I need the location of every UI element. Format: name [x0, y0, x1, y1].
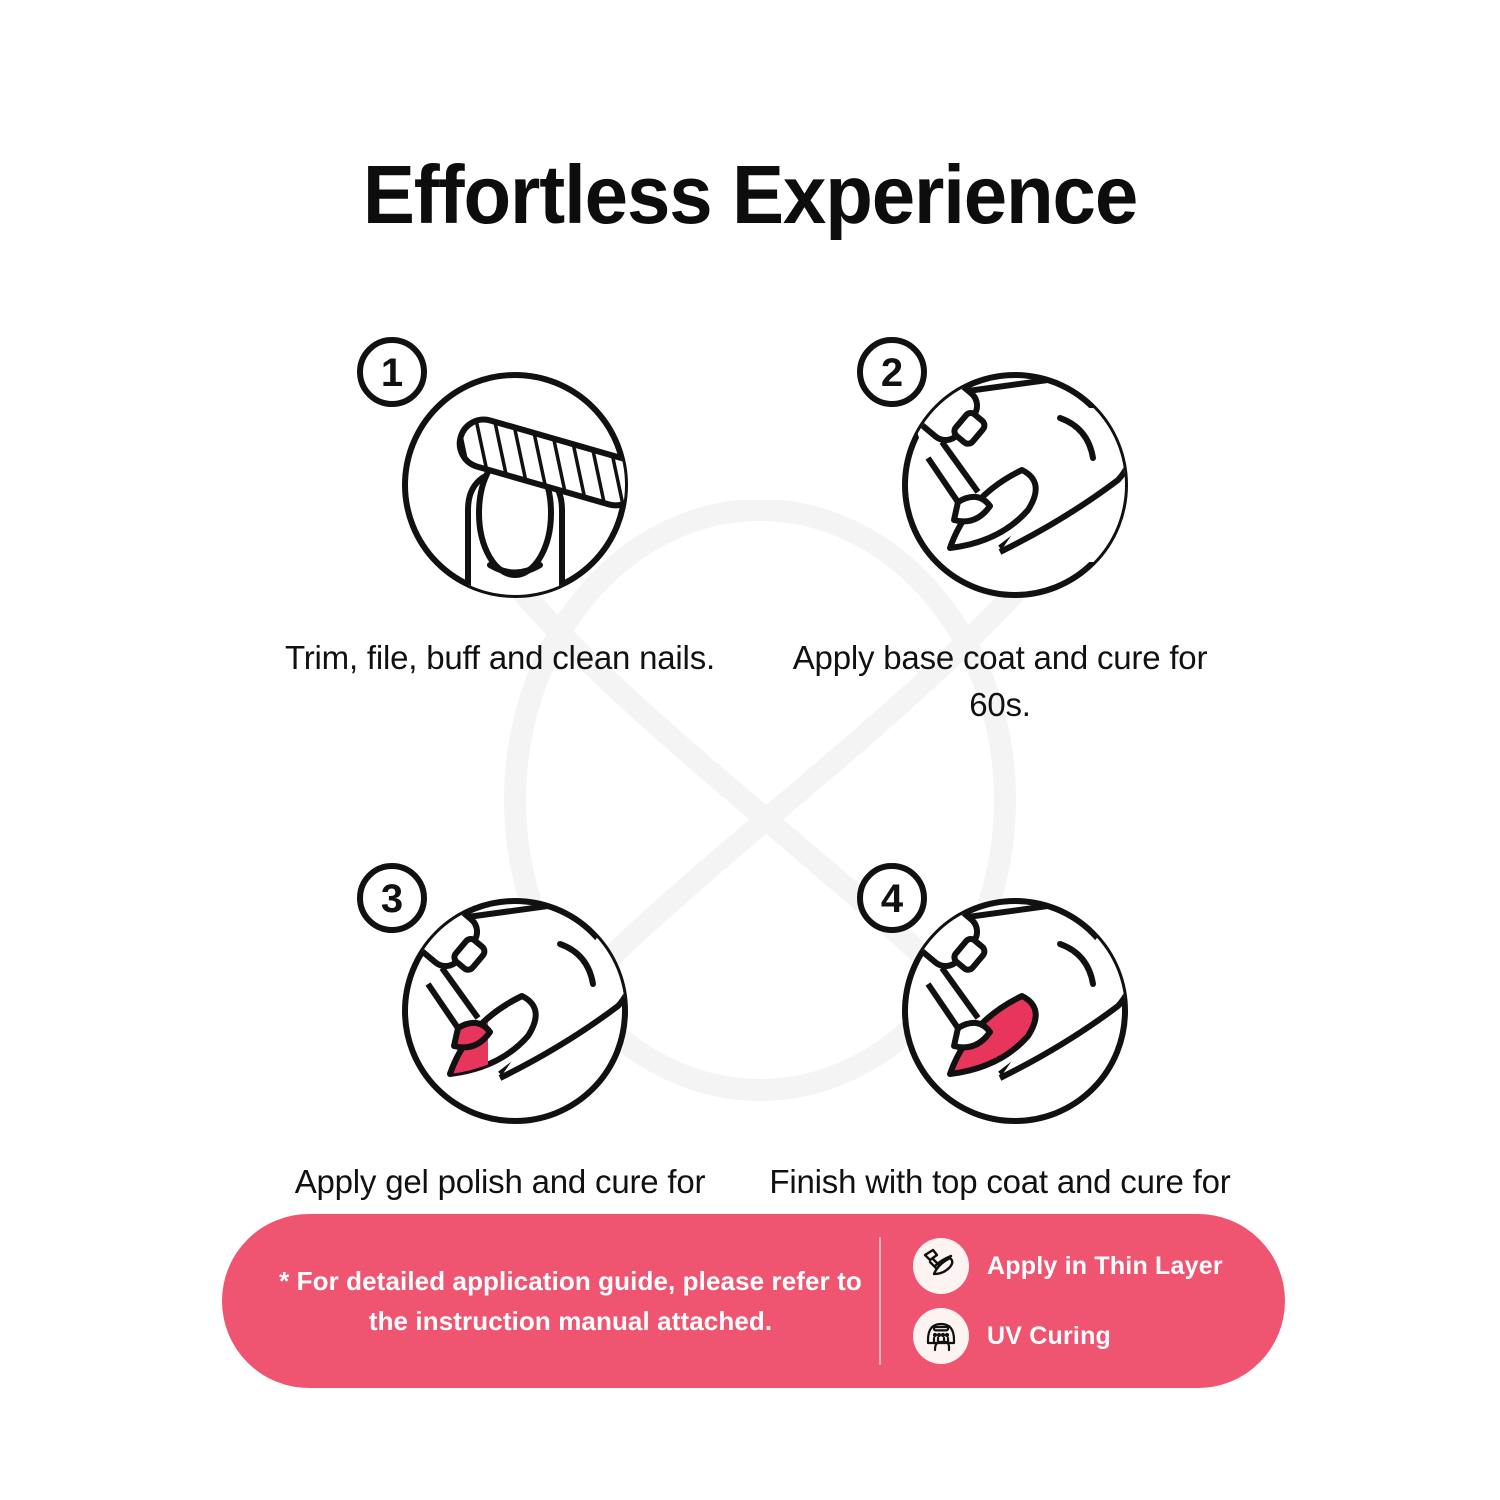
thin-layer-brush-icon	[913, 1238, 969, 1294]
step-2-artwork: 2	[850, 330, 1150, 620]
banner-note-text: * For detailed application guide, please…	[222, 1261, 877, 1341]
step-number-4: 4	[881, 877, 904, 921]
infographic-page: Effortless Experience	[0, 0, 1500, 1500]
step-number-2: 2	[881, 351, 903, 395]
steps-grid: 1 Trim, file, buff and clean nails.	[250, 330, 1250, 1252]
top-coat-brush-illustration: 4	[850, 856, 1150, 1146]
base-coat-brush-illustration: 2	[850, 330, 1150, 620]
step-caption-1: Trim, file, buff and clean nails.	[265, 634, 735, 681]
uv-lamp-icon	[913, 1308, 969, 1364]
step-1-artwork: 1	[350, 330, 650, 620]
step-card-3: 3 Apply gel polish and cure for 60s. Rep…	[250, 856, 750, 1252]
step-card-2: 2 Apply base coat and cure for 60s.	[750, 330, 1250, 728]
gel-polish-brush-illustration: 3	[350, 856, 650, 1146]
steps-row-bottom: 3 Apply gel polish and cure for 60s. Rep…	[250, 856, 1250, 1252]
feature-label-uv-curing: UV Curing	[987, 1321, 1111, 1351]
step-number-3: 3	[381, 877, 403, 921]
feature-label-thin-layer: Apply in Thin Layer	[987, 1251, 1223, 1281]
step-4-artwork: 4	[850, 856, 1150, 1146]
step-card-4: 4 Finish with top coat and cure for 60s.	[750, 856, 1250, 1252]
page-title: Effortless Experience	[45, 147, 1455, 243]
step-card-1: 1 Trim, file, buff and clean nails.	[250, 330, 750, 728]
step-number-1: 1	[381, 351, 403, 395]
footer-banner: * For detailed application guide, please…	[222, 1214, 1285, 1388]
banner-feature-list: Apply in Thin Layer	[881, 1238, 1285, 1364]
steps-row-top: 1 Trim, file, buff and clean nails.	[250, 330, 1250, 728]
nail-file-illustration: 1	[350, 330, 650, 620]
feature-item-thin-layer: Apply in Thin Layer	[913, 1238, 1285, 1294]
step-3-artwork: 3	[350, 856, 650, 1146]
feature-item-uv-curing: UV Curing	[913, 1308, 1285, 1364]
step-caption-2: Apply base coat and cure for 60s.	[765, 634, 1235, 728]
